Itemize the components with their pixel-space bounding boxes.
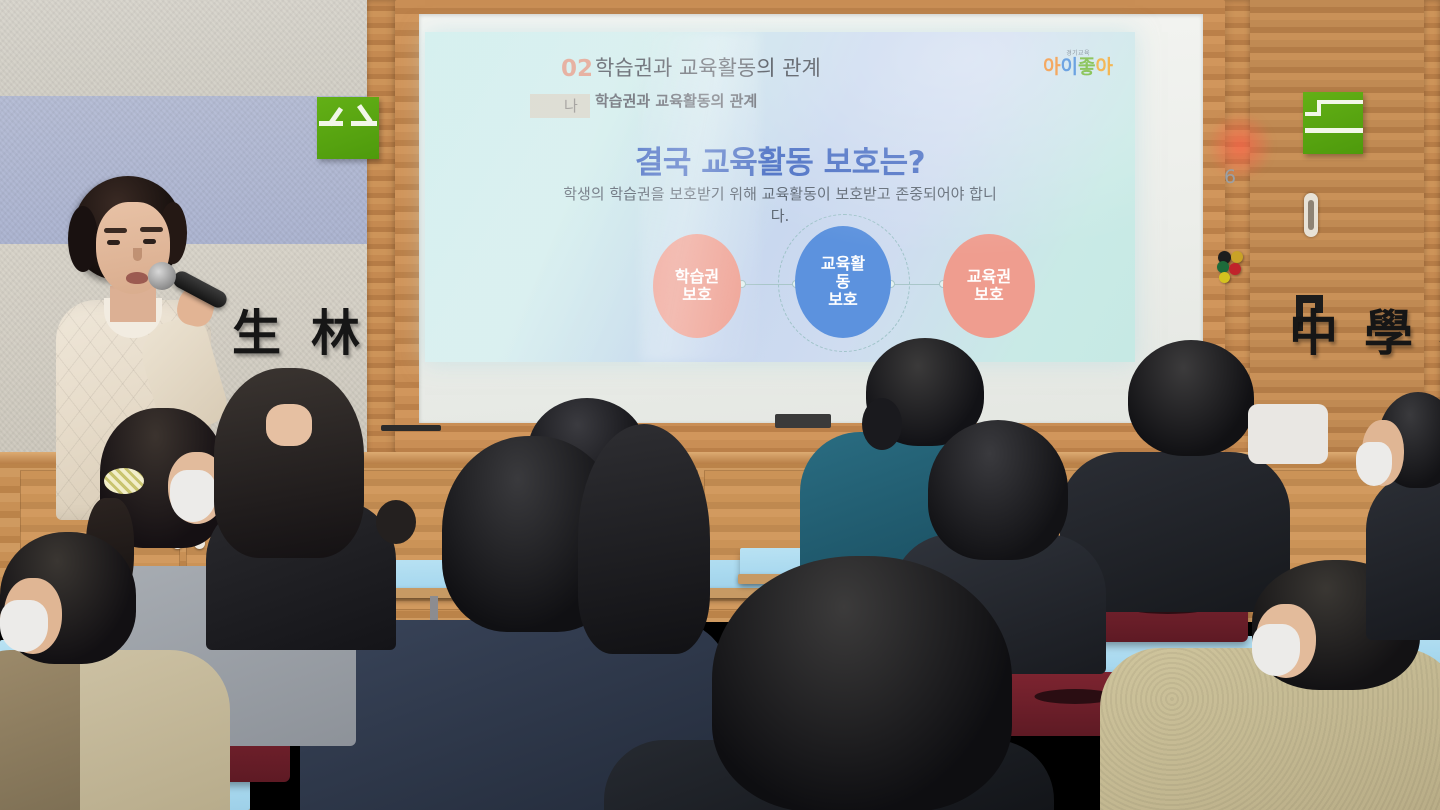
face-mask xyxy=(1252,624,1300,676)
projected-slide: 나 02 학습권과 교육활동의 관계 학습권과 교육활동의 관계 경기교육 아이… xyxy=(425,32,1135,362)
diagram-circle-right: 교육권 보호 xyxy=(943,234,1035,338)
presenter-eye xyxy=(107,240,120,245)
diagram-circle-center-line3: 보호 xyxy=(828,291,857,309)
presenter-eyebrow xyxy=(140,227,163,232)
wall-sign-char: 學 xyxy=(1364,305,1413,362)
student-hair xyxy=(712,556,1012,810)
desk-item-paper xyxy=(1248,404,1328,464)
diagram-circle-left: 학습권 보호 xyxy=(653,234,741,338)
classroom-photo: 生林 中學校 6 나 02 학습권과 교육활동의 관계 학습권과 교육활동의 관… xyxy=(0,0,1440,810)
diagram-connector-left xyxy=(741,284,799,285)
presenter-eyebrow xyxy=(104,228,127,233)
microphone-head-icon[interactable] xyxy=(148,262,176,290)
marker-tray-left xyxy=(381,425,441,431)
slide-tag-box xyxy=(530,94,590,118)
student-hair xyxy=(1128,340,1254,456)
diagram-circle-right-line2: 보호 xyxy=(974,286,1003,304)
slide-section-title: 학습권과 교육활동의 관계 xyxy=(595,56,845,82)
diagram-circle-left-line1: 학습권 xyxy=(675,268,719,286)
magnet-icon[interactable] xyxy=(1229,263,1241,275)
presenter-nose xyxy=(133,248,142,261)
wall-sign-char: 中 xyxy=(1289,305,1338,362)
logo-char: 좋 xyxy=(1078,56,1095,78)
diagram-circle-center: 교육활 동 보호 xyxy=(795,226,891,338)
slide-tag-letter: 나 xyxy=(564,95,578,116)
wall-sign-char: 林 xyxy=(311,305,360,362)
student-hair xyxy=(928,420,1068,560)
magnet-icon[interactable] xyxy=(1231,251,1243,263)
diagram-circle-center-line2: 동 xyxy=(836,273,851,291)
logo-char: 아 xyxy=(1096,56,1113,78)
logo-wordmark: 아이좋아 xyxy=(1043,58,1113,77)
presenter-eye xyxy=(143,239,156,244)
slide-headline: 결국 교육활동 보호는? xyxy=(425,137,1135,182)
slide-description: 학생의 학습권을 보호받기 위해 교육활동이 보호받고 존중되어야 합니다. xyxy=(555,184,1005,228)
wall-sign-left: 生林 xyxy=(232,294,390,365)
diagram-circle-left-line2: 보호 xyxy=(682,286,711,304)
wood-pillar-left xyxy=(367,0,397,470)
face-mask xyxy=(1356,442,1392,486)
wall-sign-right: 中學校 xyxy=(1289,294,1440,365)
logo-char: 아 xyxy=(1043,56,1060,78)
green-wall-panel-right xyxy=(1303,92,1363,154)
diagram-circle-right-line1: 교육권 xyxy=(967,268,1011,286)
program-logo: 경기교육 아이좋아 xyxy=(1043,48,1113,77)
student-vest xyxy=(0,650,80,810)
student-hair xyxy=(376,500,416,544)
door-handle-icon[interactable] xyxy=(1304,193,1318,237)
whiteboard-scribble: 6 xyxy=(1224,166,1236,188)
presenter-mouth xyxy=(126,272,148,284)
diagram-connector-right xyxy=(889,284,945,285)
wall-sign-char: 生 xyxy=(232,305,281,362)
slide-section-number: 02 xyxy=(561,56,593,82)
projector-glare xyxy=(1205,110,1275,182)
green-wall-panel-left xyxy=(317,97,379,159)
magnet-icon[interactable] xyxy=(1219,272,1230,283)
student-hair xyxy=(214,368,364,558)
logo-char: 이 xyxy=(1061,56,1078,78)
student-hair xyxy=(578,424,710,654)
diagram-circle-center-line1: 교육활 xyxy=(821,255,865,273)
face-mask xyxy=(0,600,48,652)
student-hair xyxy=(862,398,902,450)
hair-scrunchie xyxy=(104,468,144,494)
student-torso xyxy=(1366,470,1440,640)
face-mask xyxy=(170,470,216,522)
student-hand xyxy=(266,404,312,446)
slide-sub-title: 학습권과 교육활동의 관계 xyxy=(595,92,845,112)
eraser[interactable] xyxy=(775,414,831,428)
slide-diagram: 학습권 보호 교육활 동 보호 교육권 보호 xyxy=(425,228,1135,348)
